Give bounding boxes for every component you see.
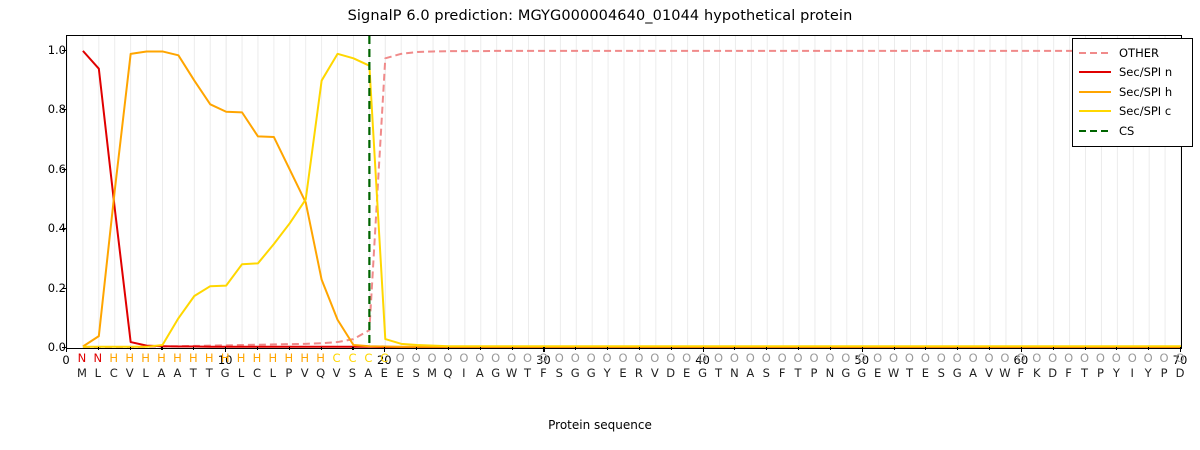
legend-item-sec-spi-h[interactable]: Sec/SPI h (1078, 82, 1187, 102)
x-tick-mark (894, 347, 895, 350)
x-tick-mark (416, 347, 417, 350)
x-tick-mark (957, 347, 958, 350)
legend-label-cs: CS (1119, 124, 1134, 138)
legend-item-other[interactable]: OTHER (1078, 43, 1187, 63)
y-tick-mark (62, 228, 67, 229)
y-tick-label: 0.4 (22, 221, 66, 235)
amino-acid-sequence-row: MLCVLAATTGLCLPVQVSAEESMQIAGWTFSGGYERVDEG… (66, 366, 1180, 381)
region-annotation-letter: O (1170, 351, 1190, 366)
x-tick-mark (830, 347, 831, 350)
x-tick-mark (130, 347, 131, 350)
y-tick-label: 1.0 (22, 43, 66, 57)
y-tick-label: 0.8 (22, 102, 66, 116)
plot-svg (67, 36, 1181, 348)
x-tick-mark (193, 347, 194, 350)
gridlines (67, 36, 1181, 348)
x-tick-mark (480, 347, 481, 350)
legend-item-sec-spi-c[interactable]: Sec/SPI c (1078, 102, 1187, 122)
x-tick-mark (1085, 347, 1086, 350)
series-line-sec-spi-h (83, 51, 1181, 346)
x-tick-mark (352, 347, 353, 350)
x-tick-mark (766, 347, 767, 350)
y-tick-mark (62, 288, 67, 289)
x-tick-mark (1148, 347, 1149, 350)
signalp-prediction-figure: SignalP 6.0 prediction: MGYG000004640_01… (0, 0, 1200, 450)
x-tick-mark (321, 347, 322, 350)
legend-item-cs[interactable]: CS (1078, 121, 1187, 141)
y-tick-label: 0.0 (22, 340, 66, 354)
legend-label-other: OTHER (1119, 46, 1159, 60)
region-annotation-row: NNHHHHHHHHHHHHHHCCCCOOOOOOOOOOOOOOOOOOOO… (66, 351, 1180, 366)
legend-swatch-sec-spi-n-icon (1078, 66, 1112, 78)
legend-item-sec-spi-n[interactable]: Sec/SPI n (1078, 63, 1187, 83)
x-tick-mark (448, 347, 449, 350)
series-line-sec-spi-c (83, 54, 1181, 347)
y-tick-mark (62, 109, 67, 110)
x-tick-mark (671, 347, 672, 350)
y-tick-mark (62, 50, 67, 51)
series-line-other (83, 51, 1181, 348)
x-tick-mark (1116, 347, 1117, 350)
plot-area (66, 35, 1182, 349)
legend-swatch-sec-spi-c-icon (1078, 105, 1112, 117)
x-tick-mark (257, 347, 258, 350)
legend-label-sec-spi-n: Sec/SPI n (1119, 65, 1172, 79)
x-axis-label: Protein sequence (0, 418, 1200, 432)
x-tick-mark (161, 347, 162, 350)
y-tick-mark (62, 169, 67, 170)
y-tick-label: 0.6 (22, 162, 66, 176)
chart-title: SignalP 6.0 prediction: MGYG000004640_01… (0, 8, 1200, 24)
series-lines (83, 51, 1181, 348)
legend-swatch-cs-icon (1078, 125, 1112, 137)
x-tick-mark (734, 347, 735, 350)
chart-legend: OTHER Sec/SPI n Sec/SPI h Sec/SPI c CS (1072, 38, 1193, 147)
x-tick-mark (798, 347, 799, 350)
x-tick-mark (575, 347, 576, 350)
sequence-residue: D (1170, 366, 1190, 381)
x-tick-mark (289, 347, 290, 350)
x-tick-mark (607, 347, 608, 350)
series-line-sec-spi-n (83, 51, 1181, 348)
legend-label-sec-spi-h: Sec/SPI h (1119, 85, 1172, 99)
x-tick-mark (512, 347, 513, 350)
x-tick-mark (98, 347, 99, 350)
x-tick-mark (1053, 347, 1054, 350)
x-tick-mark (639, 347, 640, 350)
legend-swatch-sec-spi-h-icon (1078, 86, 1112, 98)
legend-label-sec-spi-c: Sec/SPI c (1119, 104, 1171, 118)
y-tick-label: 0.2 (22, 281, 66, 295)
legend-swatch-other-icon (1078, 47, 1112, 59)
x-tick-mark (925, 347, 926, 350)
x-tick-mark (989, 347, 990, 350)
